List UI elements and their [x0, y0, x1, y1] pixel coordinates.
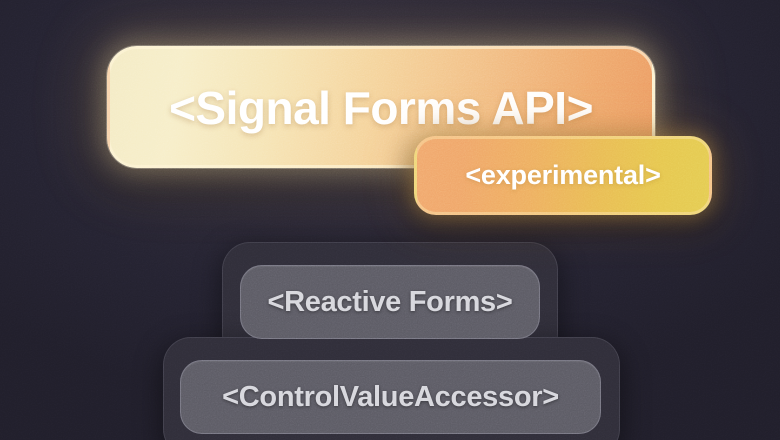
experimental-badge-label: <experimental> — [465, 160, 660, 191]
control-value-accessor-label: <ControlValueAccessor> — [222, 381, 559, 414]
slide-canvas: <Reactive Forms> <ControlValueAccessor> … — [0, 0, 780, 440]
signal-forms-api-label: <Signal Forms API> — [169, 81, 593, 135]
reactive-forms-label: <Reactive Forms> — [267, 286, 512, 319]
control-value-accessor-pill[interactable]: <ControlValueAccessor> — [180, 360, 601, 434]
experimental-badge[interactable]: <experimental> — [414, 136, 712, 215]
reactive-forms-pill[interactable]: <Reactive Forms> — [240, 265, 540, 339]
